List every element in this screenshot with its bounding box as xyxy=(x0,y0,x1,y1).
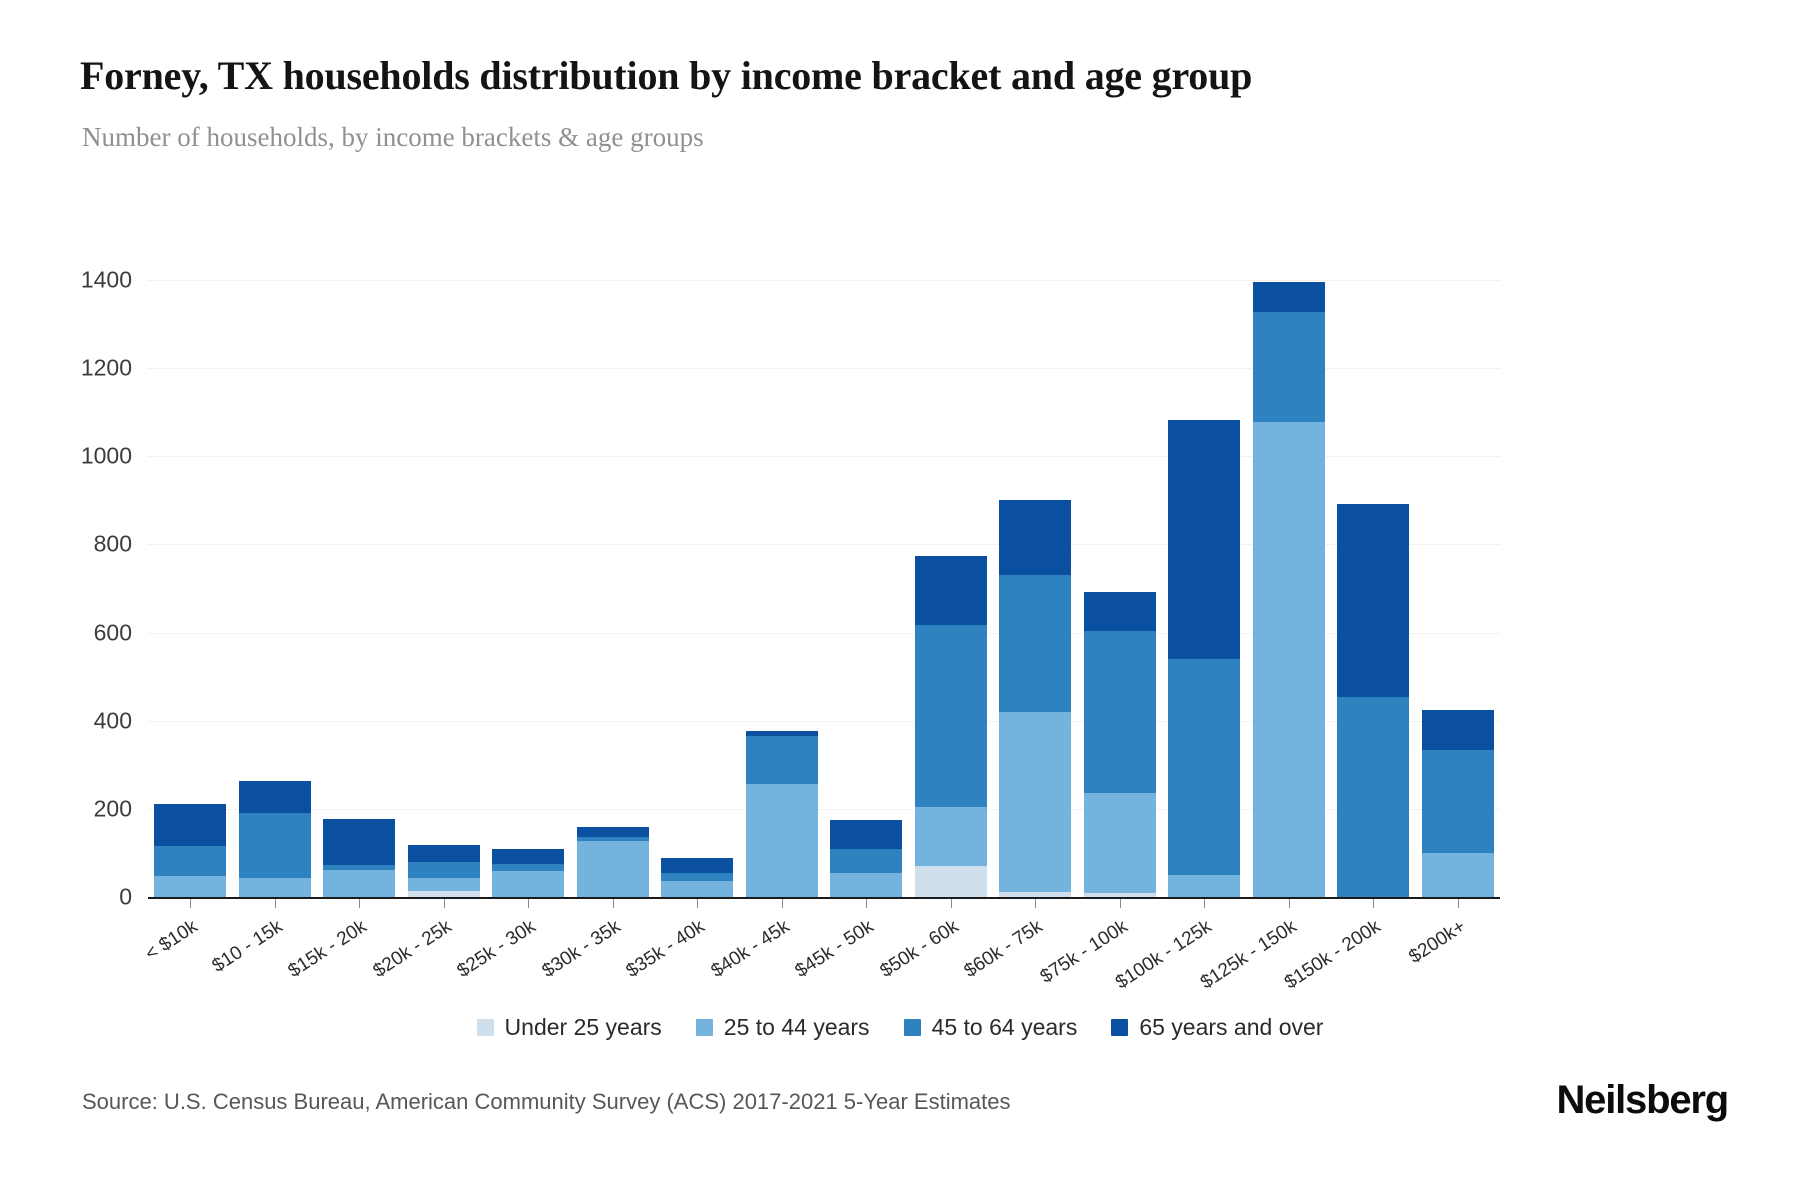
plot-area xyxy=(148,258,1500,897)
bar-segment[interactable] xyxy=(1422,710,1494,751)
bar-segment[interactable] xyxy=(1422,853,1494,897)
legend-swatch-icon xyxy=(477,1019,494,1036)
bar-segment[interactable] xyxy=(408,878,480,891)
x-axis-tick xyxy=(1458,899,1459,908)
bar-stack[interactable] xyxy=(1253,282,1325,897)
x-axis-tick xyxy=(1204,899,1205,908)
bar-segment[interactable] xyxy=(661,881,733,897)
legend-label: Under 25 years xyxy=(505,1014,662,1041)
bar-segment[interactable] xyxy=(154,876,226,897)
source-note: Source: U.S. Census Bureau, American Com… xyxy=(82,1089,1011,1115)
bar-segment[interactable] xyxy=(830,849,902,874)
legend-swatch-icon xyxy=(1111,1019,1128,1036)
bar-segment[interactable] xyxy=(1084,793,1156,893)
page-subtitle: Number of households, by income brackets… xyxy=(82,122,1742,153)
bar-stack[interactable] xyxy=(154,804,226,897)
bar-segment[interactable] xyxy=(1422,750,1494,853)
bar-segment[interactable] xyxy=(915,807,987,866)
bar-segment[interactable] xyxy=(323,819,395,866)
legend-swatch-icon xyxy=(904,1019,921,1036)
chart-page: Forney, TX households distribution by in… xyxy=(0,0,1800,1200)
bar-segment[interactable] xyxy=(1168,659,1240,875)
bar-segment[interactable] xyxy=(154,846,226,876)
y-axis-tick-label: 1400 xyxy=(60,267,132,294)
bar-segment[interactable] xyxy=(408,845,480,862)
bar-segment[interactable] xyxy=(154,804,226,846)
x-axis-tick xyxy=(1289,899,1290,908)
bar-stack[interactable] xyxy=(746,731,818,897)
legend-item[interactable]: 45 to 64 years xyxy=(904,1014,1078,1041)
x-axis-tick xyxy=(275,899,276,908)
bar-segment[interactable] xyxy=(661,873,733,881)
x-axis-tick xyxy=(190,899,191,908)
bar-stack[interactable] xyxy=(1168,420,1240,897)
x-axis-tick xyxy=(359,899,360,908)
x-axis-tick xyxy=(1120,899,1121,908)
y-axis-tick-label: 600 xyxy=(60,619,132,646)
bar-segment[interactable] xyxy=(492,871,564,897)
bar-stack[interactable] xyxy=(408,845,480,897)
legend-item[interactable]: Under 25 years xyxy=(477,1014,662,1041)
x-axis-tick xyxy=(528,899,529,908)
x-axis-tick xyxy=(951,899,952,908)
bar-segment[interactable] xyxy=(915,866,987,897)
bar-stack[interactable] xyxy=(830,820,902,897)
bar-segment[interactable] xyxy=(239,781,311,813)
page-title: Forney, TX households distribution by in… xyxy=(80,52,1740,99)
bar-segment[interactable] xyxy=(239,813,311,878)
legend-item[interactable]: 65 years and over xyxy=(1111,1014,1323,1041)
bar-segment[interactable] xyxy=(1168,875,1240,897)
bar-segment[interactable] xyxy=(999,500,1071,575)
x-axis-tick xyxy=(1373,899,1374,908)
x-axis-tick xyxy=(1035,899,1036,908)
bar-segment[interactable] xyxy=(661,858,733,873)
bar-stack[interactable] xyxy=(915,556,987,897)
legend-item[interactable]: 25 to 44 years xyxy=(696,1014,870,1041)
bar-segment[interactable] xyxy=(746,784,818,897)
bar-segment[interactable] xyxy=(577,841,649,897)
bar-segment[interactable] xyxy=(999,712,1071,892)
bar-segment[interactable] xyxy=(1337,697,1409,898)
y-axis-tick-label: 1200 xyxy=(60,355,132,382)
bar-segment[interactable] xyxy=(492,864,564,871)
bar-segment[interactable] xyxy=(1084,631,1156,792)
bar-stack[interactable] xyxy=(999,500,1071,897)
bar-segment[interactable] xyxy=(239,878,311,897)
bar-segment[interactable] xyxy=(492,849,564,864)
bar-stack[interactable] xyxy=(1422,710,1494,897)
bar-segment[interactable] xyxy=(1084,592,1156,632)
y-axis-tick-label: 400 xyxy=(60,707,132,734)
gridline xyxy=(148,280,1500,281)
x-axis-tick xyxy=(866,899,867,908)
x-axis-tick xyxy=(697,899,698,908)
bar-segment[interactable] xyxy=(915,556,987,624)
x-axis-tick xyxy=(613,899,614,908)
bar-segment[interactable] xyxy=(1253,312,1325,422)
x-axis-line xyxy=(148,897,1500,899)
bar-stack[interactable] xyxy=(239,781,311,897)
bar-segment[interactable] xyxy=(1337,504,1409,697)
x-axis-tick xyxy=(444,899,445,908)
y-axis-tick-label: 800 xyxy=(60,531,132,558)
bar-segment[interactable] xyxy=(1253,422,1325,897)
bar-stack[interactable] xyxy=(1084,592,1156,897)
x-axis-tick xyxy=(782,899,783,908)
legend-label: 65 years and over xyxy=(1139,1014,1323,1041)
chart-legend: Under 25 years25 to 44 years45 to 64 yea… xyxy=(0,1014,1800,1041)
brand-logo: Neilsberg xyxy=(1557,1078,1729,1123)
bar-segment[interactable] xyxy=(830,820,902,848)
legend-label: 25 to 44 years xyxy=(724,1014,870,1041)
bar-segment[interactable] xyxy=(746,736,818,784)
bar-segment[interactable] xyxy=(1253,282,1325,312)
legend-label: 45 to 64 years xyxy=(932,1014,1078,1041)
bar-segment[interactable] xyxy=(408,862,480,878)
bar-segment[interactable] xyxy=(1168,420,1240,659)
bar-segment[interactable] xyxy=(915,625,987,807)
bar-stack[interactable] xyxy=(492,849,564,897)
bar-stack[interactable] xyxy=(1337,504,1409,897)
bar-segment[interactable] xyxy=(999,575,1071,712)
bar-segment[interactable] xyxy=(830,873,902,897)
bar-stack[interactable] xyxy=(577,827,649,897)
bar-segment[interactable] xyxy=(577,827,649,837)
y-axis-tick-label: 200 xyxy=(60,795,132,822)
bar-stack[interactable] xyxy=(661,858,733,897)
y-axis-tick-label: 0 xyxy=(60,884,132,911)
y-axis-tick-label: 1000 xyxy=(60,443,132,470)
legend-swatch-icon xyxy=(696,1019,713,1036)
bar-segment[interactable] xyxy=(323,870,395,897)
bar-stack[interactable] xyxy=(323,819,395,897)
